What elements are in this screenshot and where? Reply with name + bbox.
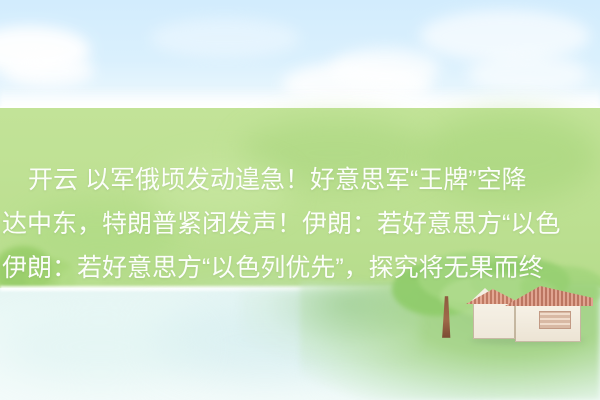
house-window <box>539 311 571 329</box>
headline-overlay: 开云 以军俄顷发动遑急！好意思军“王牌”空降 达中东，特朗普紧闭发声！伊朗：若好… <box>0 158 600 290</box>
headline-line-2: 达中东，特朗普紧闭发声！伊朗：若好意思方“以色 <box>2 202 600 246</box>
cloud-shape <box>420 10 590 62</box>
image-canvas: 开云 以军俄顷发动遑急！好意思军“王牌”空降 达中东，特朗普紧闭发声！伊朗：若好… <box>0 0 600 400</box>
headline-line-3: 伊朗：若好意思方“以色列优先”，探究将无果而终 <box>2 246 600 290</box>
cloud-shape <box>4 54 94 88</box>
house-wall-left <box>473 301 515 339</box>
headline-line-1: 开云 以军俄顷发动遑急！好意思军“王牌”空降 <box>2 158 600 202</box>
cloud-shape <box>330 48 440 88</box>
grass-bank <box>240 290 420 360</box>
cloud-shape <box>150 18 300 58</box>
water-shading <box>0 312 200 382</box>
